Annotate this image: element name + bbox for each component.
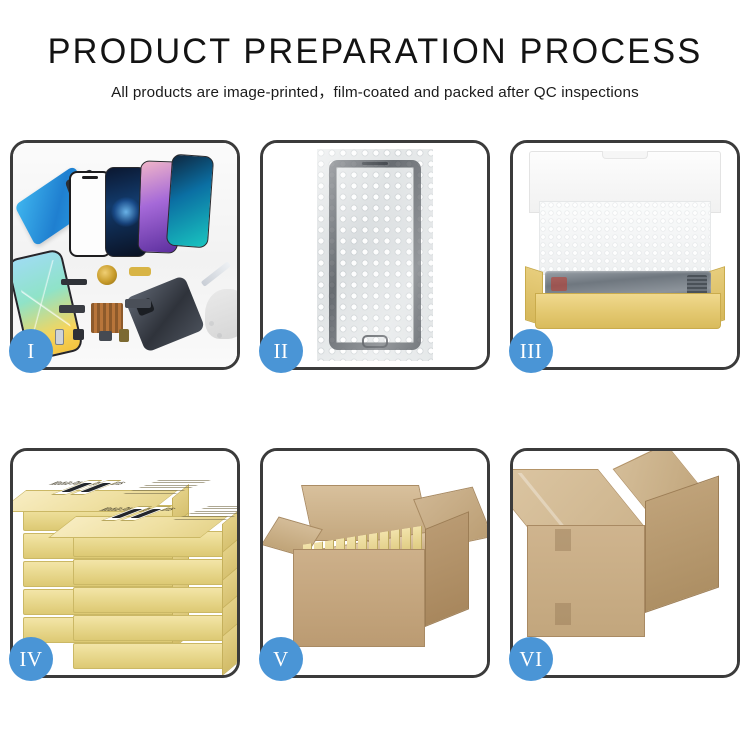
sealed-carton-side — [645, 476, 719, 613]
small-component-2 — [99, 331, 112, 341]
process-step-panel-3: III — [510, 140, 740, 370]
page-header: PRODUCT PREPARATION PROCESS All products… — [0, 0, 750, 102]
carton-front — [293, 549, 425, 647]
step-1-image — [13, 143, 237, 367]
step-badge-1: I — [9, 329, 53, 373]
process-step-panel-5: V — [260, 448, 490, 678]
sealed-carton-front — [527, 525, 645, 637]
small-component-1 — [73, 329, 84, 340]
box-stack: Mobile Phone Spare Parts — [19, 473, 237, 663]
process-step-panel-4: Mobile Phone Spare Parts — [10, 448, 240, 678]
bubble-wrap-sheet — [317, 149, 433, 361]
copper-coil-part — [97, 265, 117, 285]
wrapped-phone-screen — [329, 160, 421, 350]
retail-box — [73, 559, 225, 585]
mailer-box-front — [535, 293, 721, 329]
step-3-image — [513, 143, 737, 367]
box-top: Mobile Phone Spare Parts — [48, 516, 228, 538]
chip-part — [91, 303, 123, 333]
product-preparation-page: PRODUCT PREPARATION PROCESS All products… — [0, 0, 750, 750]
carton-tape-lower — [555, 603, 571, 625]
step-2-image — [263, 143, 487, 367]
retail-box — [73, 587, 225, 613]
process-step-grid: I II III — [10, 140, 740, 678]
step-4-image: Mobile Phone Spare Parts — [13, 451, 237, 675]
step-badge-3: III — [509, 329, 553, 373]
retail-box — [73, 615, 225, 641]
process-step-panel-6: VI — [510, 448, 740, 678]
page-title: PRODUCT PREPARATION PROCESS — [8, 34, 743, 71]
step-badge-2: II — [259, 329, 303, 373]
carton-tape-upper — [555, 529, 571, 551]
carton-side — [425, 511, 469, 627]
flex-cable-part-a — [129, 267, 151, 276]
step-badge-6: VI — [509, 637, 553, 681]
foam-insert — [539, 201, 711, 275]
page-subtitle: All products are image-printed，film-coat… — [0, 80, 750, 102]
flex-cable-part-b — [59, 305, 85, 313]
speaker-part — [61, 279, 87, 285]
small-component-3 — [119, 329, 129, 342]
hand-silhouette — [205, 289, 237, 339]
step-5-image — [263, 451, 487, 675]
step-badge-4: IV — [9, 637, 53, 681]
process-step-panel-1: I — [10, 140, 240, 370]
retail-box — [73, 643, 225, 669]
flex-cable-part-c — [125, 299, 151, 308]
step-badge-5: V — [259, 637, 303, 681]
teal-display-phone — [166, 154, 214, 249]
process-step-panel-2: II — [260, 140, 490, 370]
step-6-image — [513, 451, 737, 675]
retail-box: Mobile Phone Spare Parts — [73, 531, 225, 557]
sim-tray-part — [55, 329, 64, 345]
